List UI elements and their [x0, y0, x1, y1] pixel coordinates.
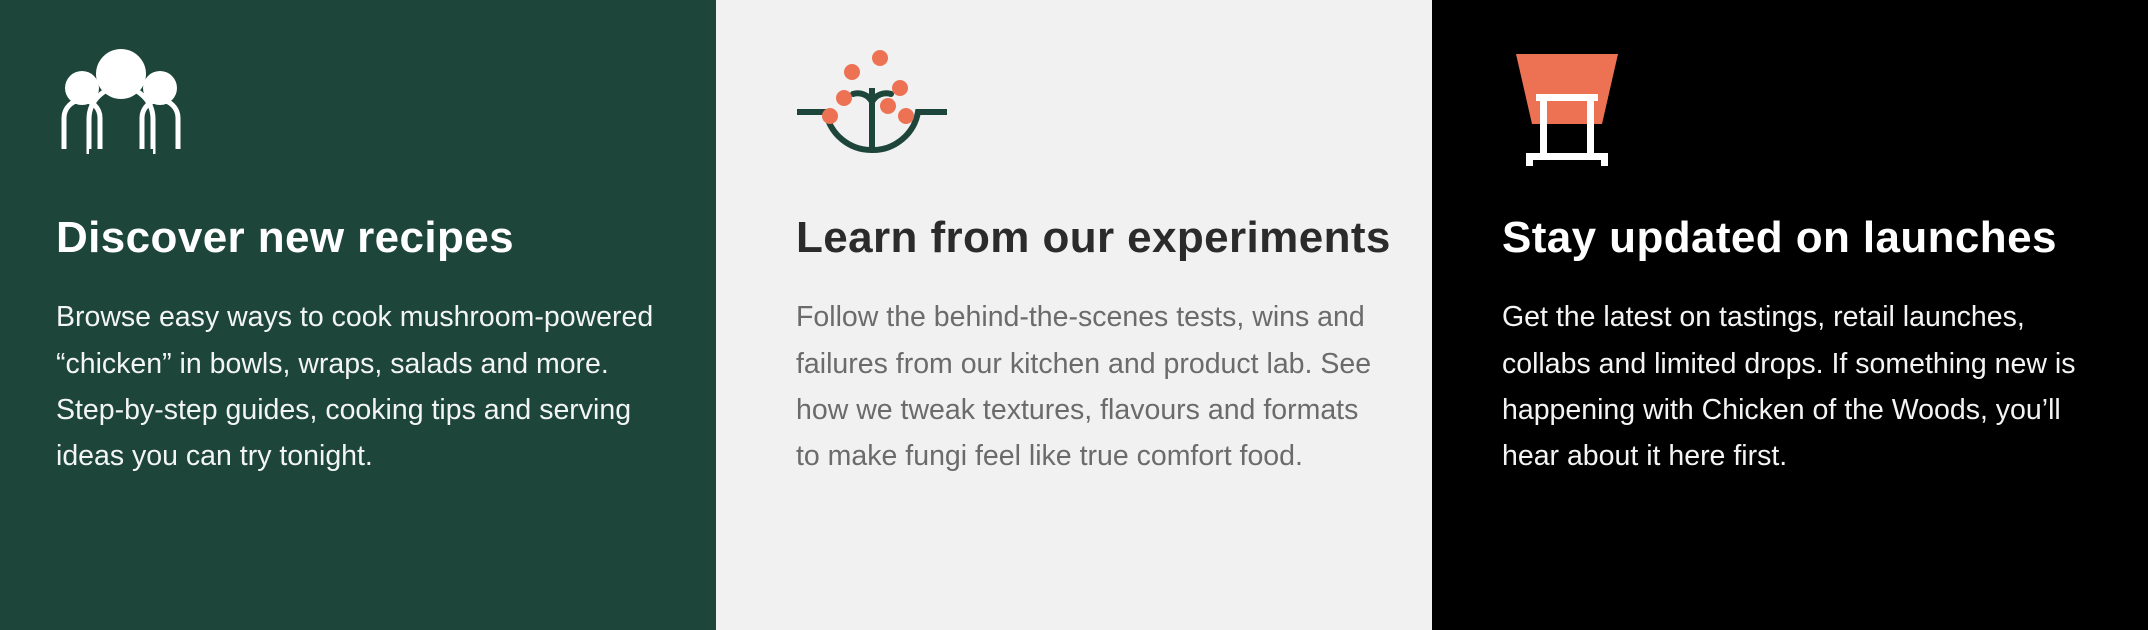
- panel-body-text: Browse easy ways to cook mushroom-powere…: [56, 294, 656, 479]
- panel-learn-experiments[interactable]: Learn from our experiments Follow the be…: [716, 0, 1432, 630]
- group-of-people-icon: [56, 46, 660, 164]
- panel-discover-recipes[interactable]: Discover new recipes Browse easy ways to…: [0, 0, 716, 630]
- panel-heading: Learn from our experiments: [796, 214, 1376, 262]
- panel-stay-updated-launches[interactable]: Stay updated on launches Get the latest …: [1432, 0, 2148, 630]
- panel-heading: Discover new recipes: [56, 214, 660, 262]
- feature-panels: Discover new recipes Browse easy ways to…: [0, 0, 2148, 630]
- panel-body-text: Follow the behind-the-scenes tests, wins…: [796, 294, 1376, 479]
- panel-body-text: Get the latest on tastings, retail launc…: [1502, 294, 2092, 479]
- sprout-experiment-icon: [772, 46, 1376, 164]
- launch-stand-icon: [1488, 46, 2092, 164]
- panel-heading: Stay updated on launches: [1502, 214, 2092, 262]
